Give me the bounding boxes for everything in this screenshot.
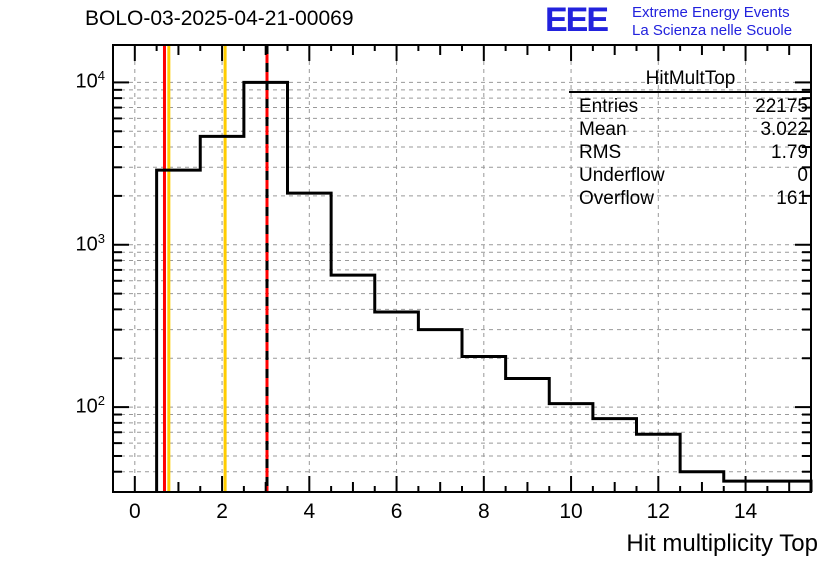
stats-key: Underflow bbox=[579, 164, 665, 187]
y-tick-label-1e4: 104 bbox=[76, 68, 105, 94]
stats-key: Mean bbox=[579, 118, 627, 141]
x-axis-title: Hit multiplicity Top bbox=[626, 530, 818, 558]
stats-row: Underflow0 bbox=[569, 164, 812, 187]
stats-value: 1.79 bbox=[771, 141, 808, 164]
stats-box: HitMultTop Entries22175Mean3.022RMS1.79U… bbox=[569, 68, 812, 210]
stats-row: Entries22175 bbox=[569, 95, 812, 118]
stats-rows: Entries22175Mean3.022RMS1.79Underflow0Ov… bbox=[569, 95, 812, 210]
stats-value: 161 bbox=[776, 187, 808, 210]
x-tick-label-4: 4 bbox=[279, 500, 339, 524]
stats-title: HitMultTop bbox=[569, 68, 812, 93]
y-tick-label-1e3: 103 bbox=[76, 231, 105, 257]
stats-key: RMS bbox=[579, 141, 621, 164]
stats-value: 0 bbox=[797, 164, 808, 187]
eee-logo-line2: La Scienza nelle Scuole bbox=[632, 22, 792, 40]
stats-value: 22175 bbox=[755, 95, 808, 118]
y-tick-label-1e2: 102 bbox=[76, 393, 105, 419]
x-tick-label-8: 8 bbox=[454, 500, 514, 524]
page-title: BOLO-03-2025-04-21-00069 bbox=[85, 7, 354, 31]
x-tick-label-0: 0 bbox=[105, 500, 165, 524]
eee-logo: EEE Extreme Energy Events La Scienza nel… bbox=[545, 2, 835, 42]
stats-row: RMS1.79 bbox=[569, 141, 812, 164]
x-tick-label-14: 14 bbox=[716, 500, 776, 524]
x-tick-label-2: 2 bbox=[192, 500, 252, 524]
x-tick-label-10: 10 bbox=[541, 500, 601, 524]
stats-row: Overflow161 bbox=[569, 187, 812, 210]
stats-row: Mean3.022 bbox=[569, 118, 812, 141]
x-tick-label-12: 12 bbox=[628, 500, 688, 524]
plot-canvas: BOLO-03-2025-04-21-00069 EEE Extreme Ene… bbox=[0, 0, 836, 572]
stats-value: 3.022 bbox=[760, 118, 808, 141]
eee-logo-letters: EEE bbox=[545, 3, 607, 37]
eee-logo-text: Extreme Energy Events La Scienza nelle S… bbox=[632, 4, 792, 40]
x-tick-label-6: 6 bbox=[367, 500, 427, 524]
eee-logo-line1: Extreme Energy Events bbox=[632, 4, 792, 22]
stats-key: Overflow bbox=[579, 187, 654, 210]
stats-key: Entries bbox=[579, 95, 638, 118]
